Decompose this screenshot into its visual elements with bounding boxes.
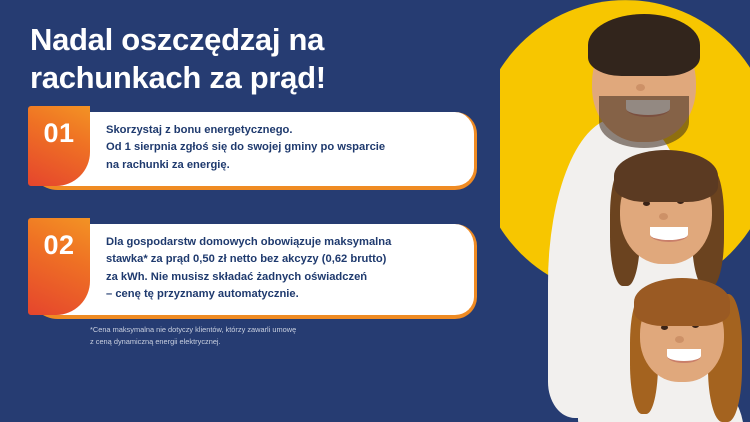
page-title: Nadal oszczędzaj na rachunkach za prąd! <box>30 21 450 97</box>
footnote-disclaimer: *Cena maksymalna nie dotyczy klientów, k… <box>90 324 420 348</box>
benefit-card-02-number-badge: 02 <box>28 218 90 315</box>
man-nose <box>636 84 645 91</box>
artwork-panel <box>500 0 750 422</box>
girl-smile <box>667 349 701 363</box>
benefit-card-02-text: Dla gospodarstw domowych obowiązuje maks… <box>90 224 417 315</box>
woman-hair-top <box>614 150 718 202</box>
benefit-card-01: 01 Skorzystaj z bonu energetycznego. Od … <box>28 112 477 190</box>
benefit-card-02: 02 Dla gospodarstw domowych obowiązuje m… <box>28 224 477 319</box>
man-hair <box>588 14 700 76</box>
man-beard <box>599 96 689 148</box>
girl-hair-top <box>634 278 730 326</box>
benefit-card-02-shell: 02 Dla gospodarstw domowych obowiązuje m… <box>28 224 477 319</box>
benefit-card-01-number-badge: 01 <box>28 106 90 186</box>
family-photo <box>500 0 750 422</box>
woman-smile <box>650 227 688 242</box>
woman-nose <box>659 213 668 220</box>
promo-banner: Nadal oszczędzaj na rachunkach za prąd! … <box>0 0 750 422</box>
benefit-card-01-shell: 01 Skorzystaj z bonu energetycznego. Od … <box>28 112 477 190</box>
benefit-card-01-text: Skorzystaj z bonu energetycznego. Od 1 s… <box>90 112 411 186</box>
girl-nose <box>675 336 684 343</box>
